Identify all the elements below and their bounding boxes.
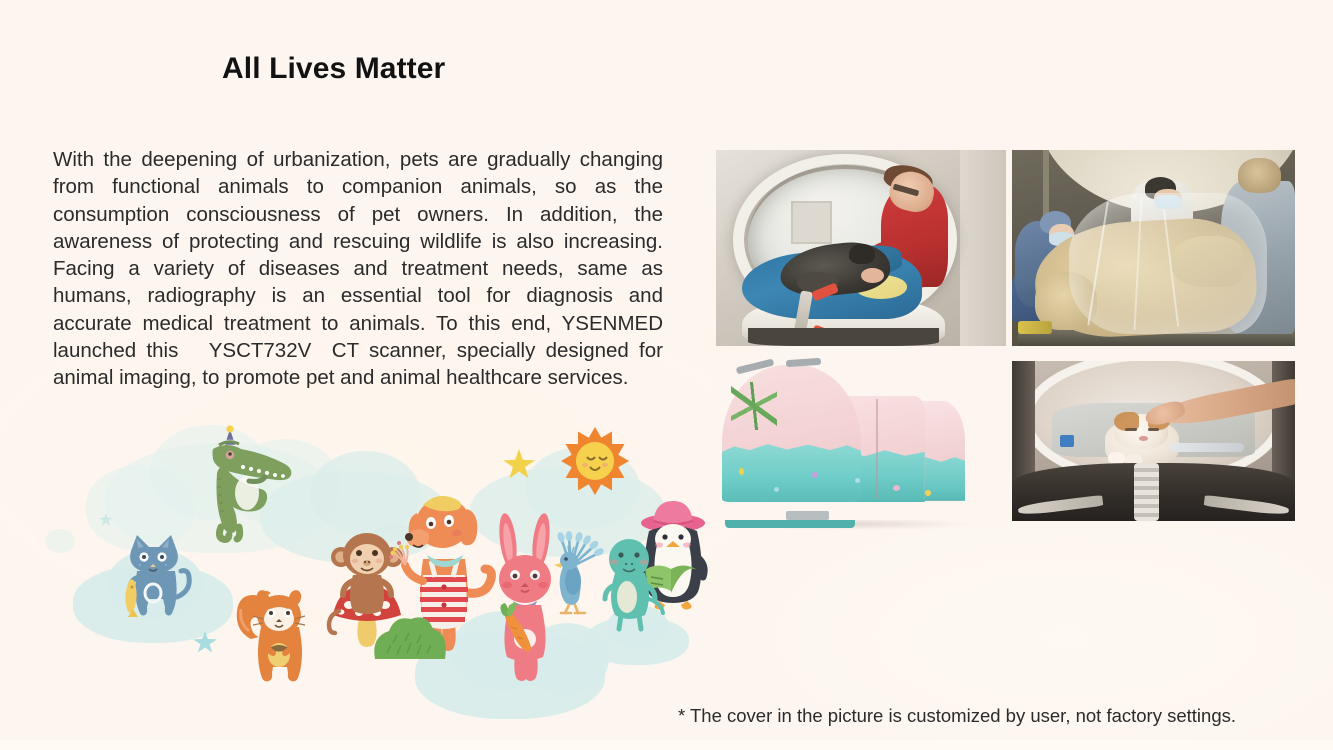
product-model-inline: YSCT732V — [189, 339, 332, 362]
photo-ysct732v-scanner-render — [716, 358, 1006, 530]
cartoon-animals-on-clouds — [55, 425, 685, 725]
page-title: All Lives Matter — [222, 52, 445, 86]
slide-canvas: All Lives Matter With the deepening of u… — [0, 0, 1333, 750]
turtle — [589, 535, 671, 637]
background-bottom-strip — [0, 740, 1333, 750]
smiling-sun — [559, 425, 631, 497]
body-text-part1: With the deepening of urbanization, pets… — [53, 148, 663, 362]
body-paragraph: With the deepening of urbanization, pets… — [53, 146, 663, 392]
squirrel-with-acorn — [227, 583, 325, 687]
cloud-edge-left — [45, 529, 75, 553]
photo-vet-dog-ct — [716, 150, 1006, 346]
footnote-disclaimer: * The cover in the picture is customized… — [678, 705, 1236, 727]
photo-surgical-team-big-cat — [1012, 150, 1295, 346]
rabbit-with-carrot — [475, 513, 575, 685]
photo-cat-in-scanner — [1012, 361, 1295, 521]
cat-holding-fish — [107, 531, 203, 623]
bush — [371, 609, 449, 663]
